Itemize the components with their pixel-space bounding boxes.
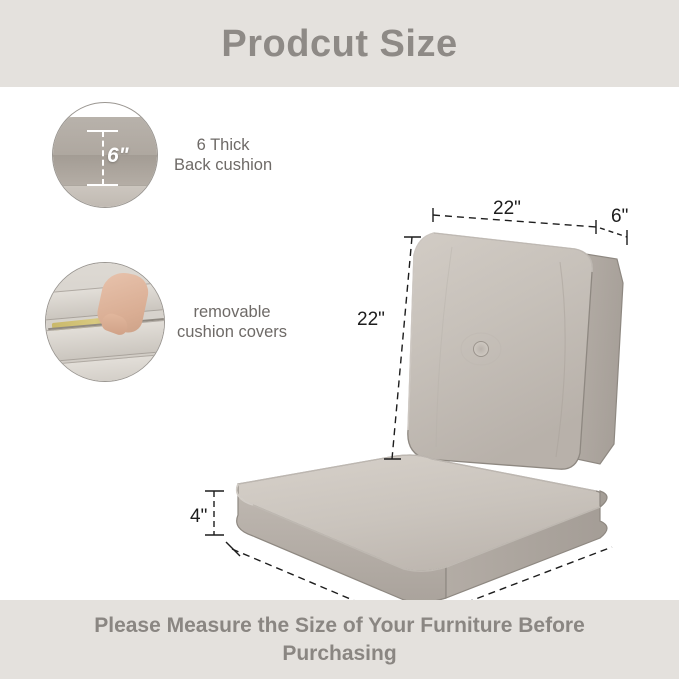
- page-title: Prodcut Size: [221, 25, 457, 63]
- cushion-set-dimension-diagram: [0, 87, 679, 600]
- footer-banner: Please Measure the Size of Your Furnitur…: [0, 600, 679, 679]
- back-cushion-shape: [408, 233, 623, 469]
- dimension-label-back-thickness: 6": [611, 206, 628, 228]
- footer-message: Please Measure the Size of Your Furnitur…: [30, 612, 650, 668]
- main-illustration-area: 6" 6 ThickBack cushion removablecushion …: [0, 87, 679, 600]
- dimension-label-back-width: 22": [493, 198, 521, 220]
- dimension-label-seat-thickness: 4": [190, 506, 207, 528]
- header-banner: Prodcut Size: [0, 0, 679, 87]
- dimension-label-back-height: 22": [357, 309, 385, 331]
- seat-cushion-shape: [237, 455, 607, 600]
